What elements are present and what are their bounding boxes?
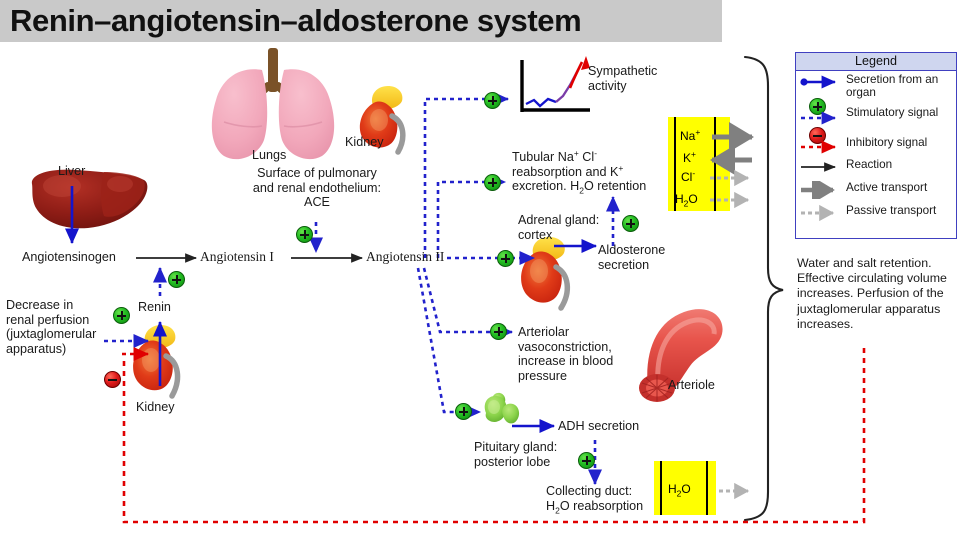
label-ace-note: Surface of pulmonary and renal endotheli… bbox=[228, 166, 406, 210]
label-collecting-duct: Collecting duct:H2O reabsorption bbox=[546, 484, 666, 513]
label-angiotensin-1: Angiotensin I bbox=[200, 250, 274, 265]
trigger-line-3: (juxtaglomerular bbox=[6, 327, 96, 341]
legend-title: Legend bbox=[796, 53, 956, 71]
ace-line-2: and renal endothelium: bbox=[253, 181, 381, 195]
vaso-line-2: vasoconstriction, bbox=[518, 340, 612, 354]
label-adh-secretion: ADH secretion bbox=[558, 419, 639, 434]
label-kidney-top: Kidney bbox=[345, 135, 384, 150]
adrenal-line-1: Adrenal gland: bbox=[518, 213, 599, 227]
label-angiotensin-2: Angiotensin II bbox=[366, 250, 444, 265]
adrenal-line-2: cortex bbox=[518, 228, 552, 242]
label-renin: Renin bbox=[138, 300, 171, 315]
legend-label-reaction: Reaction bbox=[846, 158, 892, 171]
trigger-line-2: renal perfusion bbox=[6, 313, 89, 327]
legend-item-secretion: Secretion from an organ bbox=[796, 71, 956, 100]
vaso-line-4: pressure bbox=[518, 369, 567, 383]
legend-label-inhibitory: Inhibitory signal bbox=[846, 136, 927, 149]
ion-label-k: K+ bbox=[683, 151, 696, 165]
vaso-line-1: Arteriolar bbox=[518, 325, 569, 339]
label-angiotensinogen: Angiotensinogen bbox=[22, 250, 116, 265]
ace-line-3: ACE bbox=[304, 195, 330, 209]
legend-item-passive-transport: Passive transport bbox=[796, 202, 956, 222]
label-aldosterone-secretion: Aldosterone secretion bbox=[598, 243, 698, 272]
sympathetic-line-2: activity bbox=[588, 79, 627, 93]
summary-text: Water and salt retention. Effective circ… bbox=[797, 256, 949, 332]
trigger-line-1: Decrease in bbox=[6, 298, 73, 312]
reaction-arrow-icon bbox=[799, 158, 843, 176]
inhibitory-signal-icon bbox=[799, 132, 843, 150]
legend-label-active-transport: Active transport bbox=[846, 181, 927, 194]
ace-line-1: Surface of pulmonary bbox=[257, 166, 377, 180]
label-sympathetic-activity: Sympathetic activity bbox=[588, 64, 678, 93]
label-decrease-renal-perfusion: Decrease in renal perfusion (juxtaglomer… bbox=[6, 298, 116, 356]
label-adrenal-gland: Adrenal gland: cortex bbox=[518, 213, 638, 242]
aldosterone-line-1: Aldosterone bbox=[598, 243, 665, 257]
stimulatory-signal-icon bbox=[799, 102, 843, 120]
ion-label-h2o-collecting: H2O bbox=[668, 482, 691, 496]
label-pituitary-gland: Pituitary gland: posterior lobe bbox=[474, 440, 594, 469]
vaso-line-3: increase in blood bbox=[518, 354, 613, 368]
label-liver: Liver bbox=[58, 164, 85, 179]
label-kidney-bottom: Kidney bbox=[136, 400, 175, 415]
ion-label-h2o: H2O bbox=[675, 192, 698, 206]
aldosterone-line-2: secretion bbox=[598, 258, 649, 272]
active-transport-arrow-icon bbox=[799, 181, 843, 199]
legend-label-stimulatory: Stimulatory signal bbox=[846, 106, 938, 119]
legend-item-reaction: Reaction bbox=[796, 156, 956, 176]
collecting-line-1: Collecting duct: bbox=[546, 484, 632, 498]
secretion-arrow-icon bbox=[799, 73, 843, 91]
legend-item-stimulatory: Stimulatory signal bbox=[796, 100, 956, 120]
legend-item-inhibitory: Inhibitory signal bbox=[796, 130, 956, 150]
legend-panel: Legend Secretion from an organ Stimulato… bbox=[795, 52, 957, 239]
collecting-line-2: H2O reabsorption bbox=[546, 499, 643, 513]
ion-label-na: Na+ bbox=[680, 129, 700, 143]
label-tubular-reabsorption: Tubular Na+ Cl-reabsorption and K+excret… bbox=[512, 150, 672, 194]
passive-transport-arrow-icon bbox=[799, 204, 843, 222]
pituitary-line-1: Pituitary gland: bbox=[474, 440, 557, 454]
ion-label-cl: Cl- bbox=[681, 170, 695, 184]
legend-item-active-transport: Active transport bbox=[796, 179, 956, 199]
legend-label-passive-transport: Passive transport bbox=[846, 204, 936, 217]
pituitary-line-2: posterior lobe bbox=[474, 455, 550, 469]
label-lungs: Lungs bbox=[252, 148, 286, 163]
sympathetic-line-1: Sympathetic bbox=[588, 64, 657, 78]
diagram-canvas: Renin–angiotensin–aldosterone system bbox=[0, 0, 960, 535]
label-arteriole: Arteriole bbox=[668, 378, 715, 393]
label-arteriolar-vasoconstriction: Arteriolar vasoconstriction, increase in… bbox=[518, 325, 643, 383]
trigger-line-4: apparatus) bbox=[6, 342, 66, 356]
legend-label-secretion: Secretion from an organ bbox=[846, 73, 954, 100]
